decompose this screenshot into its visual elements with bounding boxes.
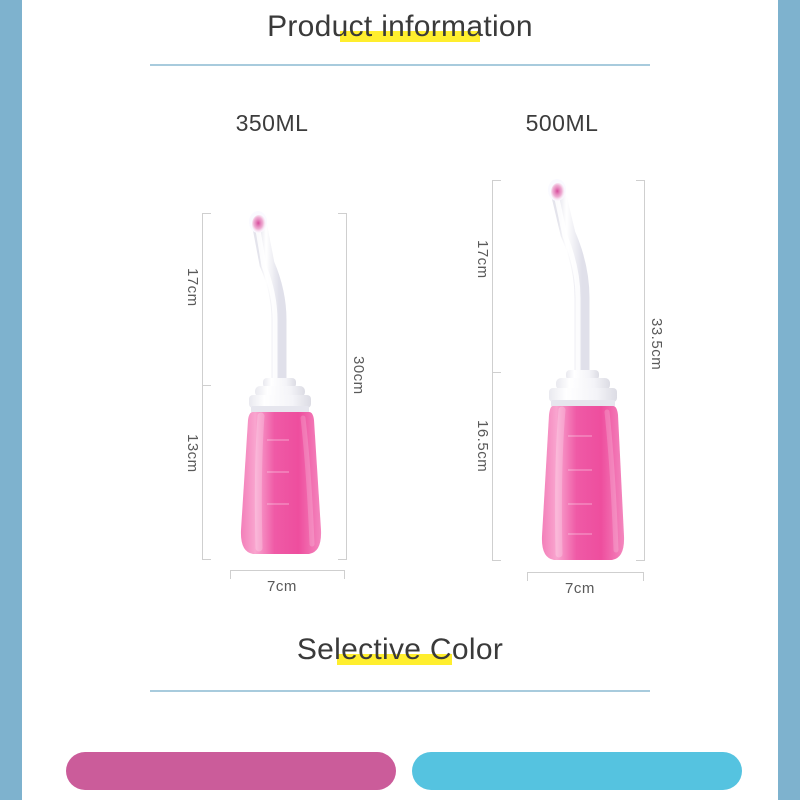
dim-350-nozzle-tick-top bbox=[202, 213, 211, 214]
page-content: Product information 350ML 17cm 13cm 30cm… bbox=[22, 0, 778, 800]
bottle-image-500ml bbox=[512, 168, 662, 568]
dim-500-nozzle-line bbox=[492, 180, 493, 373]
product-500ml-label: 500ML bbox=[412, 110, 712, 137]
color-swatch-blue[interactable] bbox=[412, 752, 742, 790]
dim-350-width-line bbox=[230, 570, 345, 571]
color-swatch-pink[interactable] bbox=[66, 752, 396, 790]
dim-350-width-label: 7cm bbox=[267, 578, 297, 595]
bottle-image-350ml bbox=[217, 200, 357, 565]
product-350ml-label: 350ML bbox=[122, 110, 422, 137]
page-border-right bbox=[778, 0, 800, 800]
dim-350-nozzle-tick-bottom bbox=[202, 385, 211, 386]
dim-350-body-label: 13cm bbox=[184, 434, 201, 473]
dim-350-width-tick-right bbox=[344, 570, 345, 579]
dim-350-nozzle-line bbox=[202, 213, 203, 385]
dim-500-nozzle-label: 17cm bbox=[474, 240, 491, 279]
dim-350-body-tick-bottom bbox=[202, 559, 211, 560]
selective-color-heading: Selective Color bbox=[22, 633, 778, 667]
page-title: Product information bbox=[267, 10, 533, 43]
selective-color-title: Selective Color bbox=[297, 633, 503, 666]
selective-color-title-text: Selective Color bbox=[297, 633, 503, 667]
dim-350-body-line bbox=[202, 385, 203, 560]
dim-500-nozzle-tick-bottom bbox=[492, 372, 501, 373]
dim-350-width-tick-left bbox=[230, 570, 231, 579]
dim-500-width-label: 7cm bbox=[565, 580, 595, 597]
dim-500-body-line bbox=[492, 372, 493, 561]
dim-500-body-tick-bottom bbox=[492, 560, 501, 561]
product-500ml: 500ML 17cm 16.5cm 33.5cm 7cm bbox=[412, 0, 712, 620]
page-border-left bbox=[0, 0, 22, 800]
dim-500-nozzle-tick-top bbox=[492, 180, 501, 181]
dim-350-nozzle-label: 17cm bbox=[184, 268, 201, 307]
dim-500-width-tick-left bbox=[527, 572, 528, 581]
product-information-title-text: Product information bbox=[267, 10, 533, 44]
dim-500-width-tick-right bbox=[643, 572, 644, 581]
product-350ml: 350ML 17cm 13cm 30cm 7cm bbox=[122, 0, 422, 620]
divider-bottom bbox=[150, 690, 650, 692]
dim-500-body-label: 16.5cm bbox=[474, 420, 491, 472]
dim-500-width-line bbox=[527, 572, 644, 573]
